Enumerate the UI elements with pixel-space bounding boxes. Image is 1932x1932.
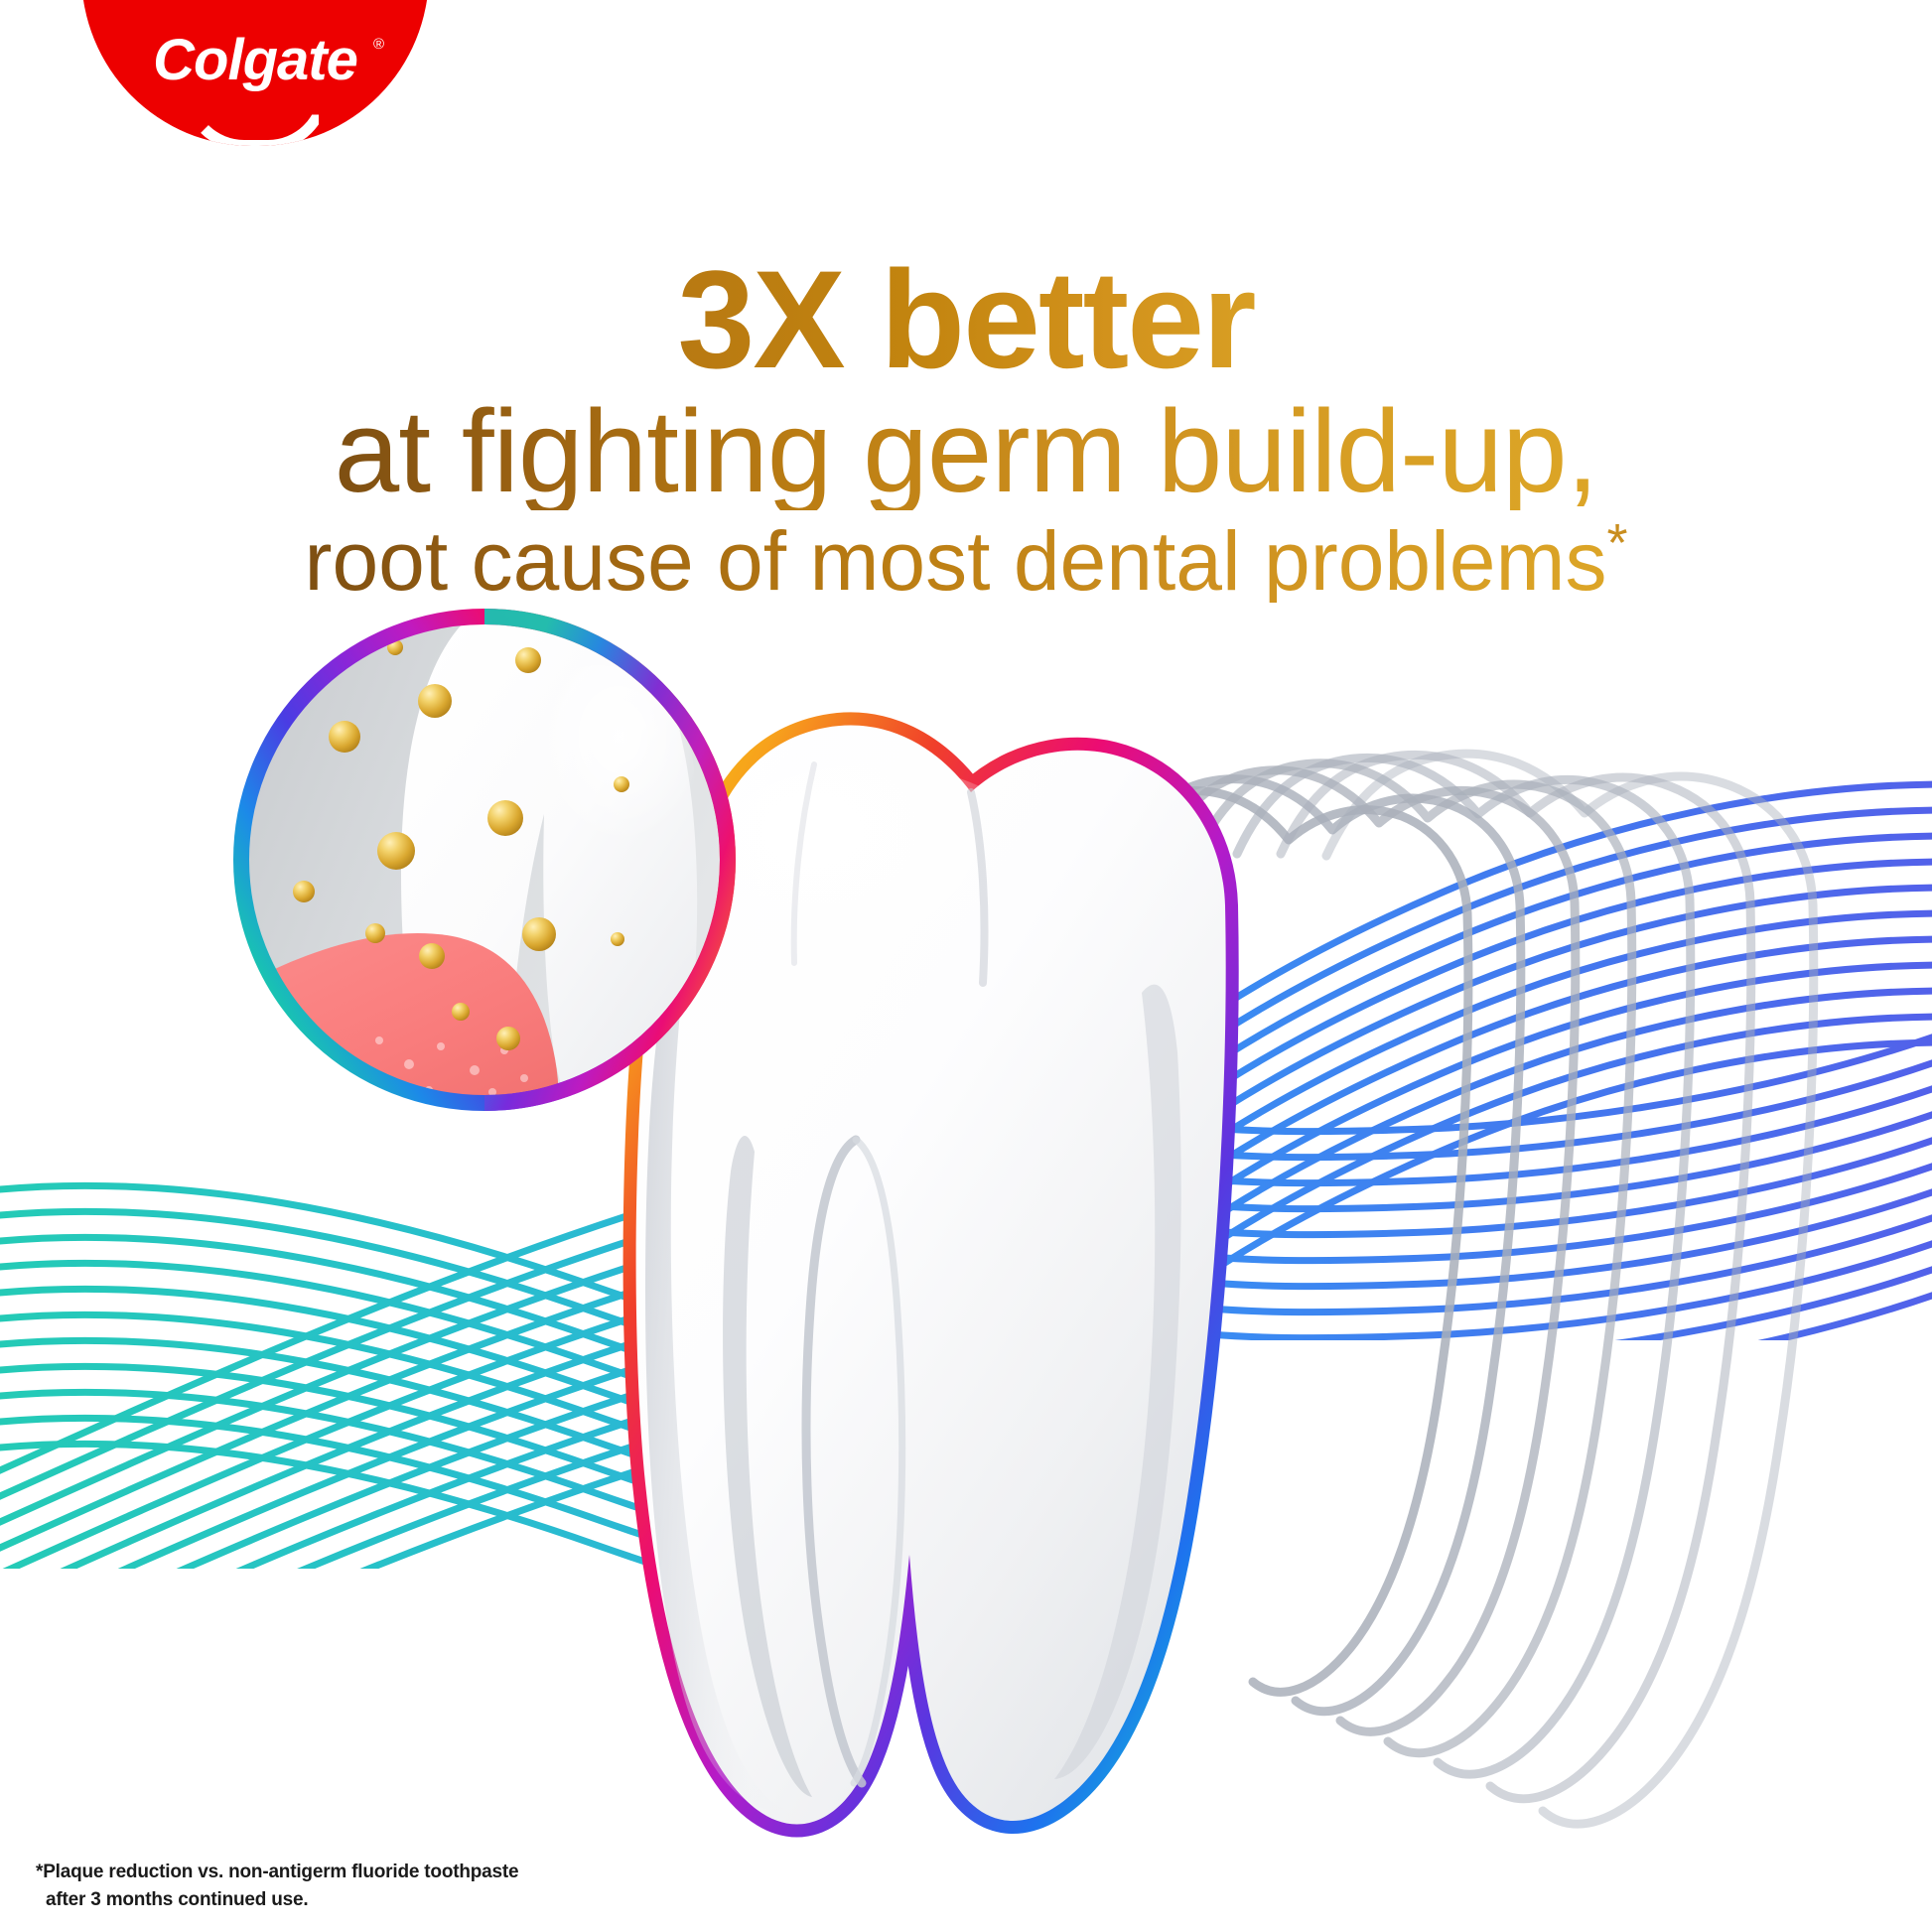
headline-line-2: at fighting germ build-up,: [0, 393, 1932, 510]
footnote-marker: *: [1607, 513, 1628, 573]
colgate-advertisement-canvas: Colgate ®: [0, 0, 1932, 1932]
smile-arc-icon: [183, 89, 330, 146]
tooth-outline-rainbow: [636, 726, 1226, 1825]
colgate-logo[interactable]: Colgate ®: [81, 0, 429, 146]
tooth-body: [636, 726, 1226, 1825]
headline-line-3: root cause of most dental problems*: [0, 516, 1932, 603]
tooth-echo-contours: [1082, 754, 1814, 1824]
footnote-block: *Plaque reduction vs. non-antigerm fluor…: [36, 1859, 518, 1913]
footnote-line-1: *Plaque reduction vs. non-antigerm fluor…: [36, 1862, 518, 1882]
colgate-wordmark-group: Colgate ®: [81, 0, 429, 146]
headline-block: 3X better at fighting germ build-up, roo…: [0, 250, 1932, 603]
magnifier-lens: [228, 592, 745, 1154]
germ-droplets: [293, 639, 629, 1050]
teal-wave-mesh: [0, 1142, 1013, 1737]
registered-trademark-icon: ®: [373, 36, 384, 53]
footnote-line-2: after 3 months continued use.: [36, 1886, 518, 1914]
headline-line-1: 3X better: [0, 250, 1932, 389]
blue-wave-mesh: [1191, 784, 1932, 1390]
